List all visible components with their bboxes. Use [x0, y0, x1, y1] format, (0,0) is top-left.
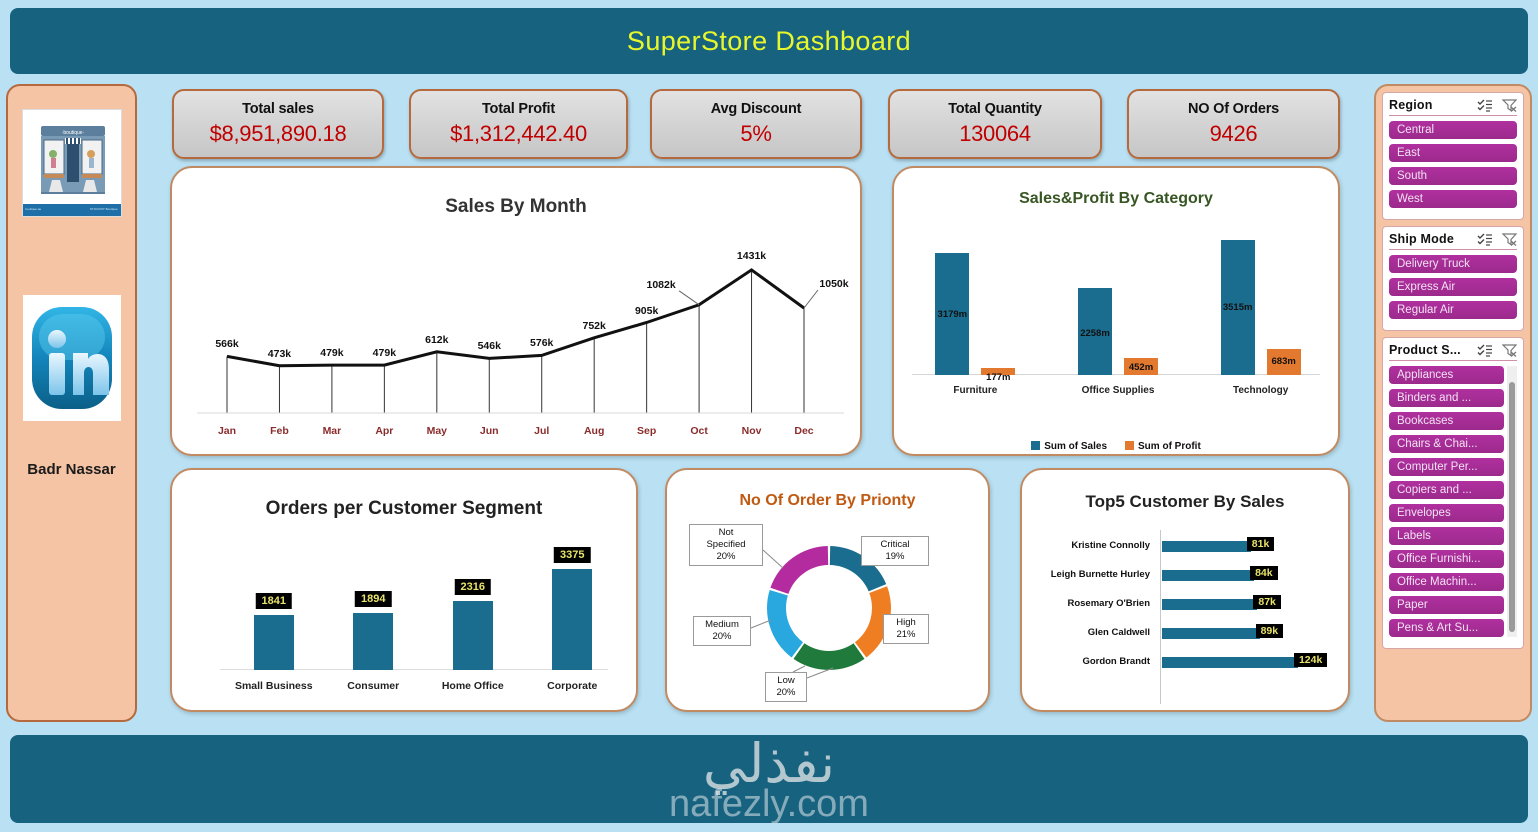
category-chart-legend: Sum of Sales Sum of Profit: [894, 441, 1338, 452]
top5-bar-value: 84k: [1250, 566, 1278, 580]
callout-high: High 21%: [883, 614, 929, 644]
slicer-title: Region: [1389, 98, 1433, 112]
slicer-title: Ship Mode: [1389, 232, 1454, 246]
legend-item-sum-of-profit: Sum of Profit: [1125, 441, 1201, 452]
category-bar-label: 177m: [986, 372, 1010, 383]
top5-customer-name: Leigh Burnette Hurley: [1028, 569, 1150, 580]
slicer-item-copiers-and[interactable]: Copiers and ...: [1389, 481, 1504, 499]
category-axis-label: Furniture: [953, 385, 997, 396]
top5-bar: [1162, 657, 1298, 668]
chart-panel-no-of-order-by-priority: No Of Order By Prionty Not Specified 20%…: [665, 468, 990, 712]
chart-title: Orders per Customer Segment: [172, 498, 636, 520]
line-point-label: 1431k: [737, 250, 766, 262]
slicer-scrollbar-thumb[interactable]: [1509, 382, 1515, 632]
slicer-scrollbar-track[interactable]: [1507, 366, 1517, 637]
top5-row: Leigh Burnette Hurley84k: [1022, 565, 1348, 587]
top5-row: Rosemary O'Brien87k: [1022, 594, 1348, 616]
storefront-illustration: ·boutique·: [23, 110, 122, 206]
top5-bar: [1162, 570, 1254, 581]
segment-bar: 1894: [353, 613, 393, 670]
top5-bar: [1162, 628, 1260, 639]
segment-axis-label: Small Business: [235, 680, 313, 692]
kpi-title: Total Quantity: [948, 101, 1042, 117]
top5-customer-name: Glen Caldwell: [1028, 627, 1150, 638]
month-axis-label: Feb: [270, 425, 289, 437]
callout-value: 20%: [770, 687, 802, 699]
callout-label: High: [888, 617, 924, 629]
line-point-label: 479k: [373, 347, 396, 359]
callout-label: Critical: [866, 539, 924, 551]
chart-title: Sales By Month: [172, 196, 860, 218]
slicer-item-east[interactable]: East: [1389, 144, 1517, 162]
top5-customer-name: Gordon Brandt: [1028, 656, 1150, 667]
legend-swatch-sales: [1031, 441, 1040, 450]
month-axis-label: Apr: [375, 425, 393, 437]
kpi-card-avg-discount: Avg Discount 5%: [650, 89, 862, 159]
kpi-card-total-quantity: Total Quantity 130064: [888, 89, 1102, 159]
callout-value: 20%: [694, 551, 758, 563]
kpi-card-total-sales: Total sales $8,951,890.18: [172, 89, 384, 159]
kpi-card-no-of-orders: NO Of Orders 9426: [1127, 89, 1340, 159]
kpi-value: 9426: [1210, 121, 1258, 147]
top5-customer-name: Kristine Connolly: [1028, 540, 1150, 551]
line-chart-area: 566kJan473kFeb479kMar479kApr612kMay546kJ…: [172, 223, 860, 443]
month-axis-label: Dec: [794, 425, 813, 437]
line-point-label: 566k: [215, 338, 238, 350]
slicer-region[interactable]: Region Central East South West: [1382, 92, 1524, 220]
slicer-header-icons: [1477, 99, 1517, 112]
category-axis-label: Office Supplies: [1082, 385, 1155, 396]
category-bar-profit: 683m: [1267, 349, 1301, 375]
segment-bar: 1841: [254, 615, 294, 670]
category-bar-label: 683m: [1272, 356, 1296, 367]
slicer-items-ship-mode: Delivery Truck Express Air Regular Air: [1389, 255, 1517, 319]
segment-axis-label: Consumer: [347, 680, 399, 692]
kpi-value: 130064: [959, 121, 1031, 147]
chart-title: No Of Order By Prionty: [667, 492, 988, 510]
month-axis-label: Nov: [742, 425, 762, 437]
slicer-product-sub-category[interactable]: Product S... Appliances Binders and ... …: [1382, 337, 1524, 649]
line-point-label: 473k: [268, 348, 291, 360]
category-bar-label: 3179m: [938, 309, 968, 320]
donut-chart-area: Not Specified 20% Critical 19% High 21% …: [667, 510, 988, 710]
segment-bar: 2316: [453, 601, 493, 670]
slicer-items-product-sub-category: Appliances Binders and ... Bookcases Cha…: [1389, 366, 1517, 637]
line-point-label: 1082k: [646, 279, 675, 291]
line-point-label: 546k: [478, 340, 501, 352]
slicer-item-bookcases[interactable]: Bookcases: [1389, 412, 1504, 430]
top5-bar-value: 124k: [1294, 653, 1327, 667]
left-sidebar: ·boutique· boutique.ae ST: [6, 84, 137, 722]
slicer-item-west[interactable]: West: [1389, 190, 1517, 208]
month-axis-label: May: [427, 425, 447, 437]
slicer-item-binders-and[interactable]: Binders and ...: [1389, 389, 1504, 407]
multi-select-icon[interactable]: [1477, 344, 1493, 357]
slicer-item-computer-peripherals[interactable]: Computer Per...: [1389, 458, 1504, 476]
segment-axis-label: Home Office: [442, 680, 504, 692]
kpi-value: 5%: [740, 121, 771, 147]
slicer-item-appliances[interactable]: Appliances: [1389, 366, 1504, 384]
line-point-label: 576k: [530, 337, 553, 349]
slicer-item-chairs-and-chairmats[interactable]: Chairs & Chai...: [1389, 435, 1504, 453]
callout-value: 21%: [888, 629, 924, 641]
kpi-card-total-profit: Total Profit $1,312,442.40: [409, 89, 628, 159]
author-name: Badr Nassar: [27, 461, 115, 478]
slicer-item-south[interactable]: South: [1389, 167, 1517, 185]
top5-bar-value: 89k: [1256, 624, 1284, 638]
slicer-item-envelopes[interactable]: Envelopes: [1389, 504, 1504, 522]
legend-label-profit: Sum of Profit: [1138, 441, 1201, 452]
top5-customer-name: Rosemary O'Brien: [1028, 598, 1150, 609]
chart-title: Top5 Customer By Sales: [1022, 492, 1348, 512]
category-bar-chart-area: 3179m177mFurniture2258m452mOffice Suppli…: [904, 226, 1328, 414]
slicer-item-office-machines[interactable]: Office Machin...: [1389, 573, 1504, 591]
month-axis-label: Jul: [534, 425, 549, 437]
chart-panel-sales-profit-by-category: Sales&Profit By Category 3179m177mFurnit…: [892, 166, 1340, 456]
top5-bar-value: 87k: [1253, 595, 1281, 609]
month-axis-label: Jan: [218, 425, 236, 437]
segment-bar-value: 1894: [355, 591, 391, 607]
callout-medium: Medium 20%: [693, 616, 751, 646]
month-axis-label: Mar: [323, 425, 342, 437]
kpi-title: Avg Discount: [711, 101, 802, 117]
slicer-item-express-air[interactable]: Express Air: [1389, 278, 1517, 296]
month-axis-label: Aug: [584, 425, 604, 437]
category-axis-label: Technology: [1233, 385, 1288, 396]
line-point-label: 612k: [425, 334, 448, 346]
multi-select-icon[interactable]: [1477, 99, 1493, 112]
slicer-item-labels[interactable]: Labels: [1389, 527, 1504, 545]
callout-label-line2: Specified: [694, 539, 758, 551]
top5-row: Gordon Brandt124k: [1022, 652, 1348, 674]
slicer-items-region: Central East South West: [1389, 121, 1517, 208]
segment-bar-chart-area: 1841Small Business1894Consumer2316Home O…: [190, 540, 618, 700]
slicer-item-pens-and-art-supplies[interactable]: Pens & Art Su...: [1389, 619, 1504, 637]
segment-bar-value: 2316: [455, 579, 491, 595]
slicer-header-icons: [1477, 233, 1517, 246]
line-point-label: 752k: [582, 320, 605, 332]
callout-value: 20%: [698, 631, 746, 643]
top5-bar-chart-area: Kristine Connolly81kLeigh Burnette Hurle…: [1022, 530, 1348, 704]
slicer-item-regular-air[interactable]: Regular Air: [1389, 301, 1517, 319]
boutique-image-caption-bar: boutique.ae STOCKIST Boutique: [23, 204, 121, 216]
chart-panel-top5-customer-by-sales: Top5 Customer By Sales Kristine Connolly…: [1020, 468, 1350, 712]
slicer-ship-mode[interactable]: Ship Mode Delivery Truck Express Air Reg…: [1382, 226, 1524, 331]
slicer-panel: Region Central East South West Ship Mode: [1374, 84, 1532, 722]
month-axis-label: Jun: [480, 425, 499, 437]
slicer-item-paper[interactable]: Paper: [1389, 596, 1504, 614]
category-bar-label: 452m: [1129, 362, 1153, 373]
page-title: SuperStore Dashboard: [627, 26, 911, 57]
category-axis-line: [912, 374, 1320, 375]
top5-bar: [1162, 599, 1257, 610]
top5-row: Glen Caldwell89k: [1022, 623, 1348, 645]
legend-item-sum-of-sales: Sum of Sales: [1031, 441, 1107, 452]
top5-bar-value: 81k: [1247, 537, 1275, 551]
svg-text:·boutique·: ·boutique·: [61, 130, 84, 136]
segment-bar-value: 1841: [256, 593, 292, 609]
top5-bar: [1162, 541, 1251, 552]
kpi-value: $1,312,442.40: [450, 121, 587, 147]
kpi-title: Total sales: [242, 101, 314, 117]
callout-low: Low 20%: [765, 672, 807, 702]
category-bar-profit: 452m: [1124, 358, 1158, 375]
category-bar-sales: 3179m: [935, 253, 969, 375]
category-bar-sales: 3515m: [1221, 240, 1255, 375]
callout-not-specified: Not Specified 20%: [689, 524, 763, 566]
chart-title: Sales&Profit By Category: [894, 190, 1338, 208]
dashboard-footer: نفذلي nafezly.com: [10, 735, 1528, 823]
line-point-label: 1050k: [819, 278, 848, 290]
category-bar-profit: 177m: [981, 368, 1015, 375]
clear-filter-icon[interactable]: [1502, 344, 1517, 357]
top5-row: Kristine Connolly81k: [1022, 536, 1348, 558]
chart-panel-sales-by-month: Sales By Month 566kJan473kFeb479kMar479k…: [170, 166, 862, 456]
slicer-item-office-furnishings[interactable]: Office Furnishi...: [1389, 550, 1504, 568]
callout-label: Medium: [698, 619, 746, 631]
category-bar-label: 3515m: [1223, 302, 1253, 313]
callout-label-line1: Not: [694, 527, 758, 539]
boutique-storefront-image: ·boutique· boutique.ae ST: [22, 109, 122, 217]
slicer-item-delivery-truck[interactable]: Delivery Truck: [1389, 255, 1517, 273]
chart-panel-orders-per-customer-segment: Orders per Customer Segment 1841Small Bu…: [170, 468, 638, 712]
slicer-header: Region: [1389, 98, 1517, 116]
slicer-title: Product S...: [1389, 343, 1461, 357]
line-point-label: 905k: [635, 305, 658, 317]
category-bar-sales: 2258m: [1078, 288, 1112, 375]
slicer-header: Ship Mode: [1389, 232, 1517, 250]
callout-critical: Critical 19%: [861, 536, 929, 566]
boutique-caption-right: STOCKIST Boutique: [90, 207, 118, 211]
line-point-label: 479k: [320, 347, 343, 359]
clear-filter-icon[interactable]: [1502, 99, 1517, 112]
kpi-title: Total Profit: [482, 101, 555, 117]
kpi-value: $8,951,890.18: [210, 121, 347, 147]
callout-label: Low: [770, 675, 802, 687]
slicer-item-central[interactable]: Central: [1389, 121, 1517, 139]
watermark-latin: nafezly.com: [669, 787, 869, 821]
kpi-title: NO Of Orders: [1188, 101, 1279, 117]
month-axis-label: Oct: [690, 425, 708, 437]
category-bar-label: 2258m: [1080, 328, 1110, 339]
segment-bar-value: 3375: [554, 547, 590, 563]
multi-select-icon[interactable]: [1477, 233, 1493, 246]
slicer-header: Product S...: [1389, 343, 1517, 361]
linkedin-logo[interactable]: [23, 295, 121, 421]
legend-label-sales: Sum of Sales: [1044, 441, 1107, 452]
month-axis-label: Sep: [637, 425, 656, 437]
dashboard-header: SuperStore Dashboard: [10, 8, 1528, 74]
boutique-caption-left: boutique.ae: [26, 207, 42, 211]
slicer-header-icons: [1477, 344, 1517, 357]
linkedin-in-icon: [29, 303, 115, 413]
segment-bar: 3375: [552, 569, 592, 670]
clear-filter-icon[interactable]: [1502, 233, 1517, 246]
segment-axis-label: Corporate: [547, 680, 597, 692]
legend-swatch-profit: [1125, 441, 1134, 450]
callout-value: 19%: [866, 551, 924, 563]
